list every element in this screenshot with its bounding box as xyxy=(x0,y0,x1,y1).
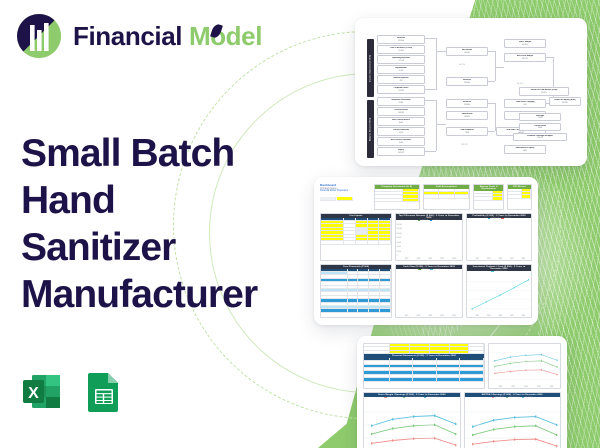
chart-data-point xyxy=(371,425,372,427)
flow-node: Return on Equity (ROE)30.23% xyxy=(549,97,581,106)
chart-data-point xyxy=(434,424,435,426)
flow-node: Total Asset Turnover0.81 xyxy=(504,99,546,108)
chart-data-point xyxy=(541,360,542,362)
flow-node: Financial Leverage Multiplier165.22 xyxy=(513,133,567,141)
excel-icon[interactable]: X xyxy=(19,368,66,415)
flow-node: Interest Expense-537 xyxy=(377,75,425,84)
chart-data-point xyxy=(557,374,558,376)
chart-data-point xyxy=(471,426,472,428)
flow-node: Net Profits Margin36.15% xyxy=(504,53,546,62)
chart-data-point xyxy=(541,354,542,356)
chart-x-axis: 20222023202420252026 xyxy=(401,316,460,317)
flow-ratio-text: 36.15% xyxy=(517,83,523,85)
chart-data-point xyxy=(494,373,495,375)
chart-plot-area: 20222023202420252026 xyxy=(396,271,462,317)
flow-node: Return on Total Assets (ROA)29.47% xyxy=(519,87,569,96)
chart-data-point xyxy=(535,438,536,440)
dashboard-input-cell[interactable] xyxy=(337,197,353,200)
chart-data-point xyxy=(434,437,435,439)
dashboard-subtitle: Financial Model Projections xyxy=(320,190,371,193)
brand-name-primary: Financial xyxy=(73,21,182,52)
chart-investment-payback: Investment Payback / Cash ($ 000) - 5 Ye… xyxy=(466,264,532,318)
flow-node: Shareholder's Equity6,857 xyxy=(504,145,546,154)
google-sheets-icon[interactable] xyxy=(80,368,127,415)
chart-data-point xyxy=(434,414,435,416)
flow-node: Current Ratio16.48 xyxy=(519,123,561,131)
chart-data-point xyxy=(472,308,473,310)
flow-node: Depreciation-1,481 xyxy=(377,65,425,74)
page-title-line-3: Sanitizer xyxy=(21,224,321,271)
chart-data-point xyxy=(541,369,542,371)
chart-data-point xyxy=(556,434,557,436)
chart-data-point xyxy=(525,361,526,363)
flow-node: Revenue131,600 xyxy=(446,99,488,108)
chart-plot-area: 20222023202420252026 xyxy=(465,399,561,448)
chart-data-point xyxy=(455,423,456,425)
chart-plot-area: 20222023202420252026 xyxy=(364,399,460,448)
panel-kpi-metrics: KPI Metrics xyxy=(507,184,532,210)
dashboard-control-cell[interactable] xyxy=(320,197,336,200)
chart-data-point xyxy=(413,415,414,417)
flow-node: Gross margin64.25% xyxy=(504,39,546,48)
chart-data-point xyxy=(471,434,472,436)
panel-cost-inputs: Cost Inputs xyxy=(320,213,392,261)
flow-node: Non-Current Assets8,081 xyxy=(377,117,425,126)
chart-gross-margin: Gross Margin / Earnings ($ 000) - 5 Year… xyxy=(363,392,461,448)
chart-data-point xyxy=(535,415,536,417)
chart-plot-area: 20222023202420252026 xyxy=(467,273,531,317)
page-title-line-1: Small Batch xyxy=(21,130,321,177)
flow-node: Cost of Revenue (COGS)-47,000 xyxy=(377,45,425,54)
flow-ratio-text: 64.25% xyxy=(459,64,465,66)
chart-data-point xyxy=(392,418,393,420)
flow-node: Non-Current Liabilities3,010 xyxy=(377,137,425,146)
chart-data-point xyxy=(371,442,372,444)
chart-data-point xyxy=(556,424,557,426)
chart-profitability: Profitability ($ 000) - 5 Years to Decem… xyxy=(466,213,532,261)
svg-text:X: X xyxy=(28,385,39,402)
chart-data-point xyxy=(535,425,536,427)
chart-plot-area: 20222023202420252026 xyxy=(489,344,560,388)
poster-canvas: Financial Model Small Batch Hand Sanitiz… xyxy=(0,0,600,448)
chart-bars xyxy=(401,276,460,314)
chart-data-point xyxy=(492,440,493,442)
chart-data-point xyxy=(492,428,493,430)
chart-data-point xyxy=(557,366,558,368)
flowchart-card[interactable]: Income Statement (3 Unit) Balance Sheet … xyxy=(355,18,587,166)
chart-x-axis: 20222023202420252026 xyxy=(494,387,558,388)
chart-data-point xyxy=(492,419,493,421)
page-title-line-4: Manufacturer xyxy=(21,271,321,318)
flow-node: Revenue131,600 xyxy=(446,77,488,86)
chart-data-point xyxy=(557,359,558,361)
chart-data-point xyxy=(525,369,526,371)
brand-logo[interactable]: Financial Model xyxy=(16,13,262,59)
flow-node: Current Liabilities9,951 xyxy=(377,127,425,136)
flow-node: Operating Expenses-17,728 xyxy=(377,55,425,64)
brand-name-accent: Model xyxy=(189,21,262,52)
dashboard-content: Dashboard Company Name : Financial Model… xyxy=(320,184,532,318)
chart-plot-area: 140,000 120,000 100,000 80,000 60,000 40… xyxy=(396,222,462,260)
flow-node: Total Assets163,925 xyxy=(446,111,488,120)
panel-financial-statements: Financial Statements ($ 000) - 5 Years t… xyxy=(363,343,485,389)
chart-data-point xyxy=(494,360,495,362)
panel-startup-costs: Startup Costs & Depreciation xyxy=(473,184,504,210)
chart-data-point xyxy=(513,426,514,428)
flow-node: Corporate Taxes-13,218 xyxy=(377,85,425,94)
chart-plot-area: 20222023202420252026 xyxy=(467,220,531,260)
chart-data-point xyxy=(528,279,529,281)
chart-ebitda-earnings: EBITDA / Earnings ($ 000) - 5 Years to D… xyxy=(464,392,562,448)
flow-node: Revenue131,600 xyxy=(377,35,425,44)
chart-bars xyxy=(401,226,460,257)
file-format-icons: X xyxy=(19,368,127,415)
chart-data-point xyxy=(510,363,511,365)
chart-data-point xyxy=(392,427,393,429)
chart-x-axis: 20222023202420252026 xyxy=(471,259,529,260)
chart-data-point xyxy=(413,425,414,427)
brand-wordmark: Financial Model xyxy=(73,21,262,52)
chart-data-point xyxy=(514,287,515,289)
chart-data-point xyxy=(510,371,511,373)
page-title: Small Batch Hand Sanitizer Manufacturer xyxy=(21,130,321,318)
flow-node: Equity165,215 xyxy=(377,147,425,156)
chart-data-point xyxy=(455,444,456,446)
chart-top-revenue-streams: Top 5 Revenue Streams ($ 000) - 5 Years … xyxy=(395,213,463,261)
chart-cash-flow: Cash Flow ($ 000) - 5 Years to December … xyxy=(395,264,463,318)
chart-data-point xyxy=(513,416,514,418)
chart-data-point xyxy=(371,433,372,435)
panel-company-investment: Company Investment (in $) xyxy=(374,184,420,210)
dupont-flowchart: Income Statement (3 Unit) Balance Sheet … xyxy=(363,27,579,157)
chart-data-point xyxy=(500,294,501,296)
dashboard-card[interactable]: Dashboard Company Name : Financial Model… xyxy=(314,177,538,325)
chart-x-axis: 20222023202420252026 xyxy=(401,259,460,260)
chart-data-point xyxy=(392,439,393,441)
circle-bar-chart-logo-icon xyxy=(16,13,62,59)
page-title-line-2: Hand xyxy=(21,177,321,224)
chart-revenue-streams-line: 20222023202420252026 xyxy=(488,343,561,389)
flow-node: Net Income48,636 xyxy=(446,47,488,56)
panel-debt-assumptions: Debt Assumptions xyxy=(423,184,471,210)
chart-data-point xyxy=(471,443,472,445)
chart-x-axis: 20222023202420252026 xyxy=(471,316,529,317)
chart-data-point xyxy=(455,433,456,435)
flowchart-group-income: Income Statement (3 Unit) xyxy=(367,39,374,97)
line-charts-content: Financial Statements ($ 000) - 5 Years t… xyxy=(363,343,561,448)
flow-node: Accounts Receivable4,984 xyxy=(377,97,425,106)
chart-data-point xyxy=(486,301,487,303)
flow-node: Current Assets163,909 xyxy=(377,107,425,116)
line-charts-card[interactable]: Financial Statements ($ 000) - 5 Years t… xyxy=(357,336,567,448)
flowchart-group-balance: Balance Sheet (3 Unit) xyxy=(367,100,374,158)
flow-node: Total Liabilities7,899 xyxy=(446,127,488,136)
chart-data-point xyxy=(556,445,557,447)
flow-ratio-text: 29.47% xyxy=(529,102,535,104)
chart-data-point xyxy=(510,356,511,358)
chart-data-point xyxy=(494,366,495,368)
chart-data-point xyxy=(413,437,414,439)
flow-ratio-text: 163,925 xyxy=(461,144,468,146)
panel-core-financials: Core Financials ($'000) xyxy=(320,264,392,318)
flow-node: Leverage1.049 xyxy=(519,113,561,121)
chart-bars xyxy=(471,224,529,257)
chart-data-point xyxy=(513,438,514,440)
chart-data-point xyxy=(525,354,526,356)
